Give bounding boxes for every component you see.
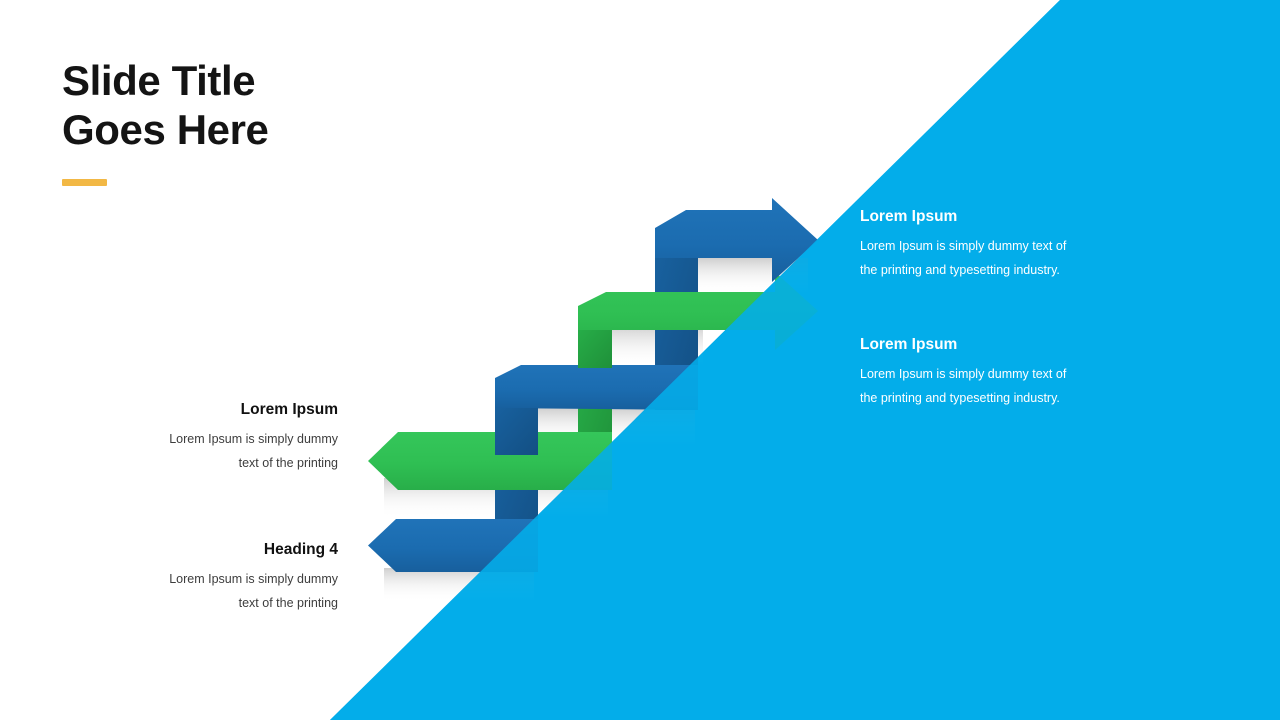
callout-right-bottom-heading: Lorem Ipsum xyxy=(860,335,1130,355)
callout-left-bottom: Heading 4 Lorem Ipsum is simply dummy te… xyxy=(88,540,338,615)
callout-left-top-body-line1: Lorem Ipsum is simply dummy xyxy=(88,427,338,451)
callout-left-bottom-body-line1: Lorem Ipsum is simply dummy xyxy=(88,567,338,591)
callout-left-top: Lorem Ipsum Lorem Ipsum is simply dummy … xyxy=(88,400,338,475)
callout-right-top-heading: Lorem Ipsum xyxy=(860,207,1130,227)
callout-right-bottom: Lorem Ipsum Lorem Ipsum is simply dummy … xyxy=(860,335,1130,410)
callout-right-top: Lorem Ipsum Lorem Ipsum is simply dummy … xyxy=(860,207,1130,282)
callout-left-top-body-line2: text of the printing xyxy=(88,451,338,475)
arrow-blue-middle-lower-riser xyxy=(495,408,538,455)
title-line-1: Slide Title xyxy=(62,56,269,105)
callout-left-bottom-heading: Heading 4 xyxy=(88,540,338,560)
callout-left-bottom-body-line2: text of the printing xyxy=(88,591,338,615)
page-title: Slide Title Goes Here xyxy=(62,56,269,186)
cyan-diagonal-overlay xyxy=(330,0,1280,720)
title-accent-bar xyxy=(62,179,107,186)
callout-left-top-heading: Lorem Ipsum xyxy=(88,400,338,420)
title-line-2: Goes Here xyxy=(62,105,269,154)
arrow-green-upper-stub xyxy=(578,330,612,368)
callout-right-top-body-line2: the printing and typesetting industry. xyxy=(860,258,1130,282)
callout-right-bottom-body-line1: Lorem Ipsum is simply dummy text of xyxy=(860,362,1130,386)
callout-right-top-body-line1: Lorem Ipsum is simply dummy text of xyxy=(860,234,1130,258)
callout-right-bottom-body-line2: the printing and typesetting industry. xyxy=(860,386,1130,410)
